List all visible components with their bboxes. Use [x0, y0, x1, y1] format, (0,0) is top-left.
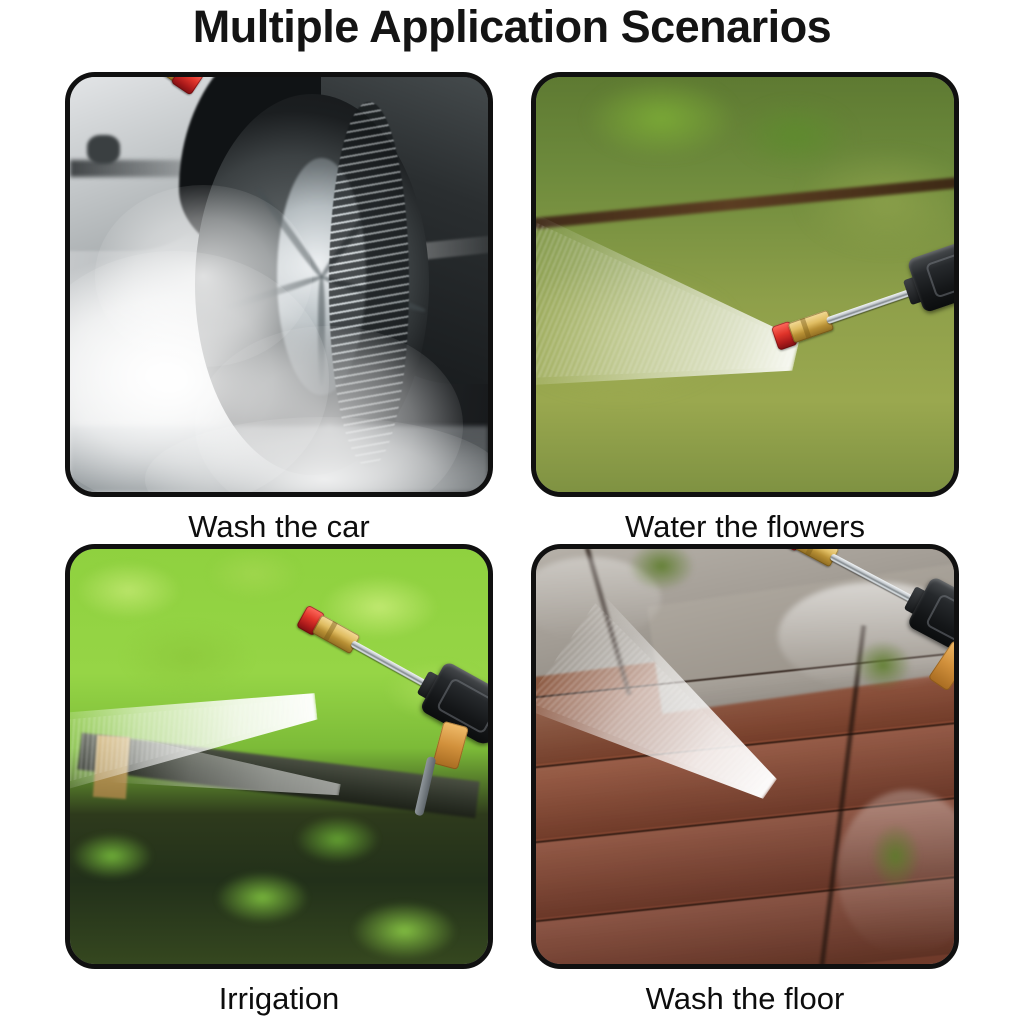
spray-wand [350, 640, 430, 689]
lawn-scene [536, 77, 954, 492]
scenario-caption-irrigation: Irrigation [44, 980, 514, 1018]
scenario-card-wash-the-floor[interactable]: Wash the floor [510, 544, 980, 1018]
hose-inlet-connector [432, 721, 469, 770]
gun-grip-panel [925, 246, 959, 298]
scenario-card-irrigation[interactable]: Irrigation [44, 544, 514, 1018]
wooden-post [93, 735, 131, 799]
spray-wand [826, 288, 915, 325]
floor-scene [536, 549, 954, 964]
rim-spoke [318, 277, 325, 386]
brass-nozzle-body [788, 310, 835, 344]
scenario-grid: Wash the car [0, 62, 1024, 1024]
scenario-photo-wash-the-floor [531, 544, 959, 969]
scenario-caption-wash-the-car: Wash the car [44, 508, 514, 546]
page-title: Multiple Application Scenarios [0, 0, 1024, 58]
scenario-photo-wash-the-car [65, 72, 493, 497]
scenario-photo-water-the-flowers [531, 72, 959, 497]
rim-spoke [255, 187, 325, 279]
spray-wand [829, 553, 917, 604]
tire-tread [329, 102, 408, 467]
car-wash-scene [70, 77, 488, 492]
red-nozzle-tip [171, 72, 205, 96]
hose-inlet-connector [928, 640, 959, 692]
scenario-caption-wash-the-floor: Wash the floor [510, 980, 980, 1018]
wet-ground [70, 426, 488, 492]
rim-spoke [217, 273, 323, 313]
scenario-photo-irrigation [65, 544, 493, 969]
scenario-card-wash-the-car[interactable]: Wash the car [44, 72, 514, 546]
moss-growth [628, 544, 695, 591]
scenario-card-water-the-flowers[interactable]: Water the flowers [510, 72, 980, 546]
garden-scene [70, 549, 488, 964]
car-door-handle [87, 135, 120, 164]
moss-growth [870, 823, 920, 889]
scenario-caption-water-the-flowers: Water the flowers [510, 508, 980, 546]
scenario-poster: Multiple Application Scenarios [0, 0, 1024, 1024]
